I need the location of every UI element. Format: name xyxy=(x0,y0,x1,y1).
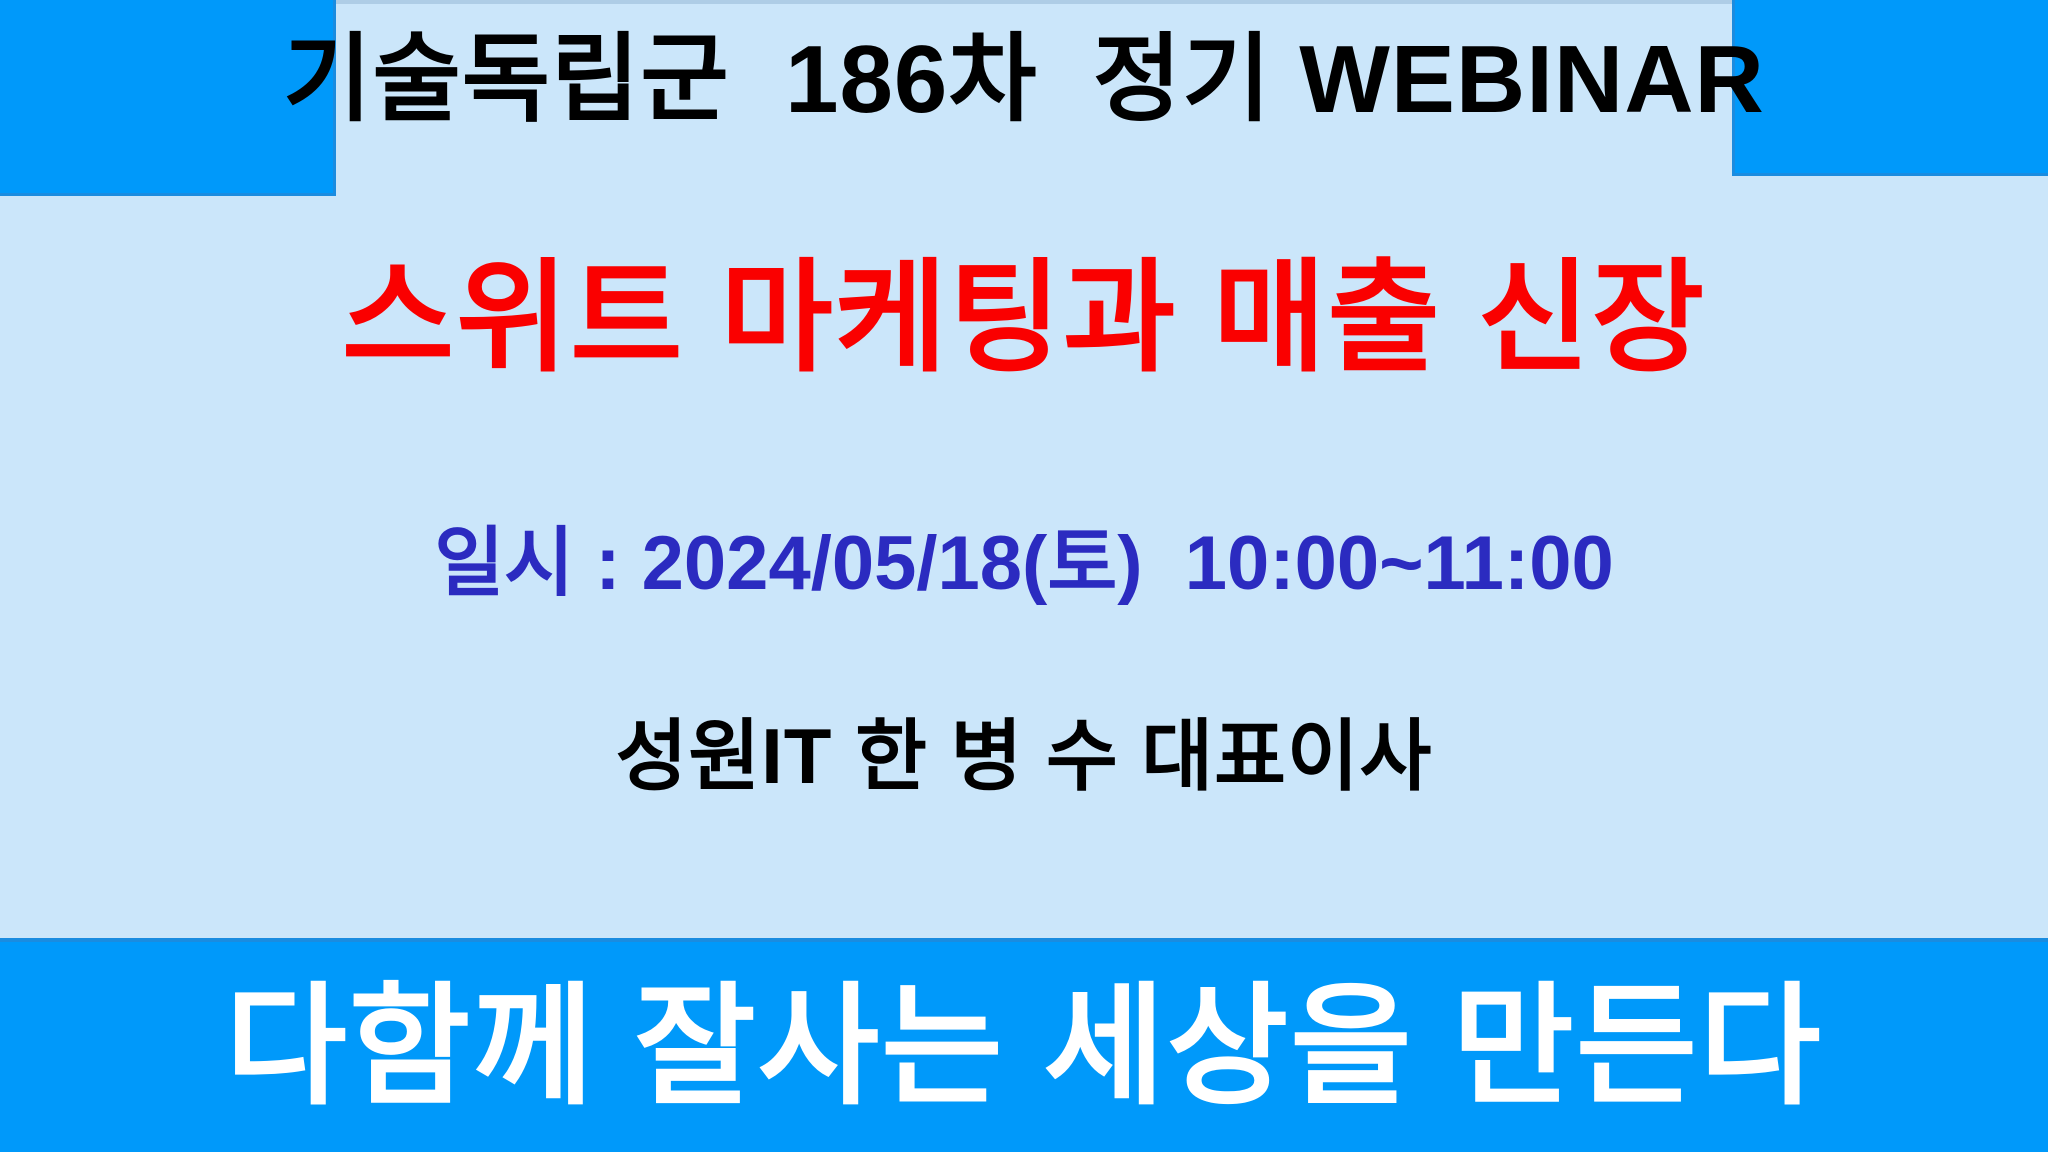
event-datetime: 일시 : 2024/05/18(토) 10:00~11:00 xyxy=(0,520,2048,607)
header-title: 기술독립군 186차 정기 WEBINAR xyxy=(0,30,2048,131)
header-divider-line xyxy=(336,0,1732,4)
footer-slogan-text: 다함께 잘사는 세상을 만든다 xyxy=(225,981,1822,1113)
main-headline: 스위트 마케팅과 매출 신장 xyxy=(0,250,2048,387)
footer-slogan-banner: 다함께 잘사는 세상을 만든다 xyxy=(0,938,2048,1152)
webinar-poster: 기술독립군 186차 정기 WEBINAR 스위트 마케팅과 매출 신장 일시 … xyxy=(0,0,2048,1152)
event-speaker: 성원IT 한 병 수 대표이사 xyxy=(0,712,2048,802)
